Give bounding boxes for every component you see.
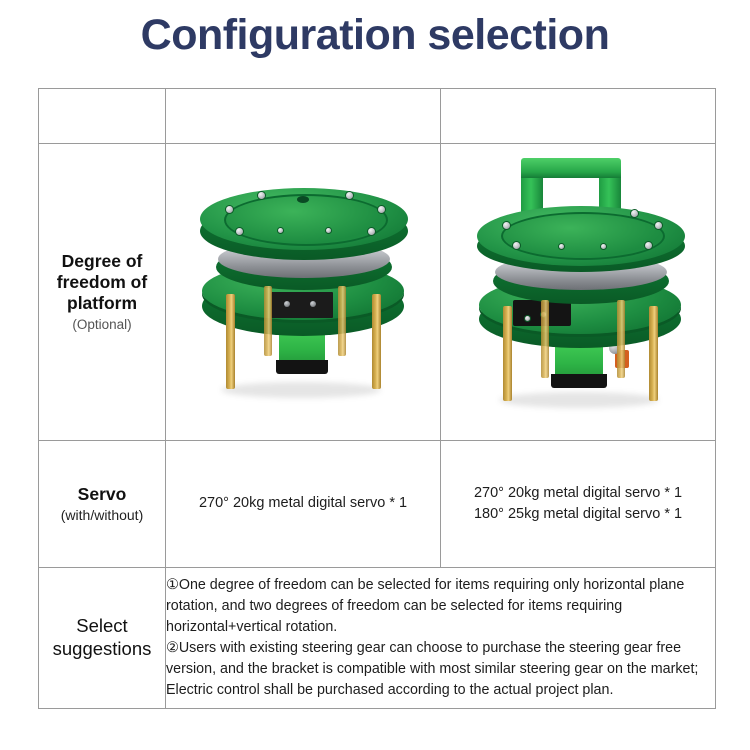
configuration-selection-page: Configuration selection 1-DOF servo plat… — [0, 0, 750, 750]
row-label-sub: (with/without) — [39, 506, 165, 524]
servo-spec-line: 180° 25kg metal digital servo * 1 — [441, 504, 715, 525]
platform-1dof-illustration — [166, 144, 440, 440]
suggestion-item-1: ①One degree of freedom can be selected f… — [166, 575, 715, 638]
table-header-row: 1-DOF servo platform 2-DOF servo platfor… — [39, 89, 716, 144]
row-label-main: Degree of freedom of platform — [39, 251, 165, 315]
cell-2dof-servo: 270° 20kg metal digital servo * 1 180° 2… — [441, 441, 716, 568]
servo-spec-line: 270° 20kg metal digital servo * 1 — [441, 483, 715, 504]
header-corner-blank — [39, 89, 166, 144]
table-row-select-suggestions: Select suggestions ①One degree of freedo… — [39, 568, 716, 709]
table-row-servo: Servo (with/without) 270° 20kg metal dig… — [39, 441, 716, 568]
cell-1dof-image — [166, 144, 441, 441]
row-label-servo: Servo (with/without) — [39, 441, 166, 568]
row-label-sub: (Optional) — [39, 316, 165, 334]
row-label-select-suggestions: Select suggestions — [39, 568, 166, 709]
table-row-degree-of-freedom: Degree of freedom of platform (Optional) — [39, 144, 716, 441]
cell-select-suggestions: ①One degree of freedom can be selected f… — [166, 568, 716, 709]
row-label-degree-of-freedom: Degree of freedom of platform (Optional) — [39, 144, 166, 441]
row-label-main: Select suggestions — [39, 615, 165, 660]
cell-2dof-image — [441, 144, 716, 441]
column-header-1dof: 1-DOF servo platform — [166, 89, 441, 144]
servo-spec-line: 270° 20kg metal digital servo * 1 — [166, 493, 440, 514]
configuration-table: 1-DOF servo platform 2-DOF servo platfor… — [38, 88, 716, 709]
suggestion-item-2: ②Users with existing steering gear can c… — [166, 638, 715, 701]
platform-2dof-illustration — [441, 144, 715, 440]
column-header-2dof: 2-DOF servo platform — [441, 89, 716, 144]
page-title: Configuration selection — [0, 12, 750, 59]
row-label-main: Servo — [39, 484, 165, 505]
cell-1dof-servo: 270° 20kg metal digital servo * 1 — [166, 441, 441, 568]
